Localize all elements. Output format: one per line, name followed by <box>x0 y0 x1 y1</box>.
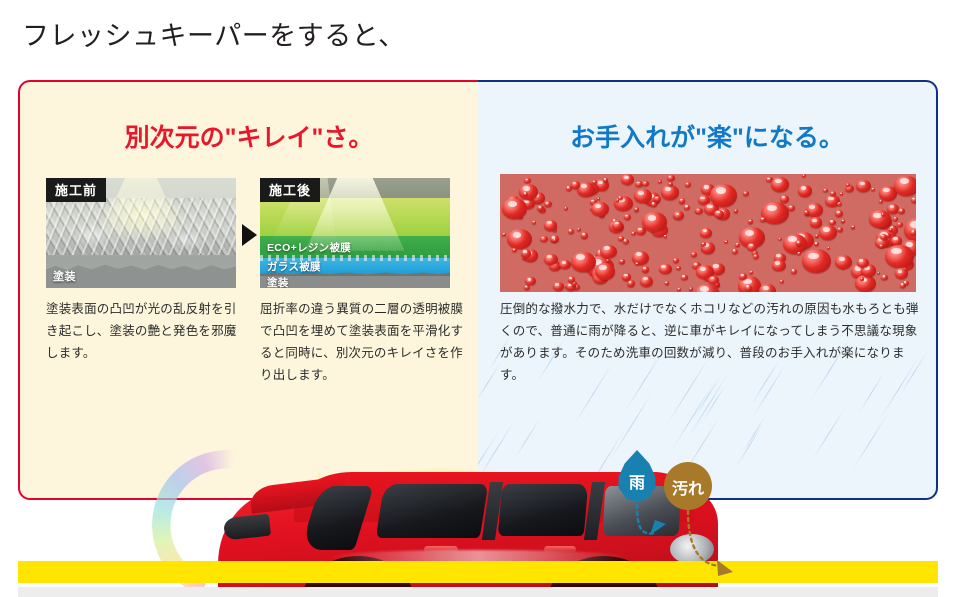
before-after-figures: 施工前 塗装 施工後 ECO+レジン被膜 ガラス被膜 塗装 <box>46 178 458 288</box>
before-paint-label: 塗装 <box>53 268 76 284</box>
car-door-handle <box>424 546 458 553</box>
badge-dirt-label: 汚れ <box>664 475 712 499</box>
before-caption: 塗装表面の凸凹が光の乱反射を引き起こし、塗装の艶と発色を邪魔します。 <box>46 298 246 364</box>
before-tag: 施工前 <box>46 178 106 202</box>
rain-arrow-head <box>650 520 666 535</box>
badge-rain-label: 雨 <box>615 469 659 493</box>
layer-label-glass: ガラス被膜 <box>267 259 321 274</box>
rain-arrow-path <box>637 505 655 534</box>
left-panel-heading: 別次元の"キレイ"さ。 <box>20 118 478 154</box>
dirt-arrow-path <box>688 511 722 566</box>
right-panel-caption: 圧倒的な撥水力で、水だけでなくホコリなどの汚れの原因も水もろとも弾くので、普通に… <box>500 298 920 386</box>
figure-before: 施工前 塗装 <box>46 178 236 288</box>
car-wheel-arch <box>548 556 660 597</box>
badge-rain: 雨 <box>615 450 659 502</box>
after-caption: 屈折率の違う異質の二層の透明被膜で凸凹を埋めて塗装表面を平滑化すると同時に、別次… <box>260 298 466 386</box>
dirt-arrow-head <box>717 560 733 576</box>
yellow-bar <box>18 561 938 583</box>
car-door-handle <box>544 546 576 553</box>
layer-label-eco-resin: ECO+レジン被膜 <box>267 240 351 255</box>
arrow-right-icon <box>242 224 257 246</box>
page-title: フレッシュキーパーをすると、 <box>22 14 406 53</box>
badge-dirt: 汚れ <box>664 462 712 510</box>
car-wheel-arch <box>302 556 414 597</box>
car-taillight <box>223 514 271 541</box>
water-beading-photo <box>500 174 916 292</box>
panel-easy-care: お手入れが"楽"になる。 圧倒的な撥水力で、水だけでなくホコリなどの汚れの原因も… <box>478 80 938 500</box>
grey-footer-strip <box>18 587 938 597</box>
car-highlight <box>258 558 418 579</box>
right-panel-heading: お手入れが"楽"になる。 <box>478 118 936 154</box>
figure-after: 施工後 ECO+レジン被膜 ガラス被膜 塗装 <box>260 178 450 288</box>
comparison-panels: 別次元の"キレイ"さ。 施工前 塗装 <box>18 80 938 500</box>
panel-cleanliness: 別次元の"キレイ"さ。 施工前 塗装 <box>18 80 478 500</box>
car-headlamp <box>670 534 714 564</box>
car-body <box>218 490 718 597</box>
after-tag: 施工後 <box>260 178 320 202</box>
layer-label-paint: 塗装 <box>267 275 289 288</box>
car-highlight <box>328 550 628 564</box>
